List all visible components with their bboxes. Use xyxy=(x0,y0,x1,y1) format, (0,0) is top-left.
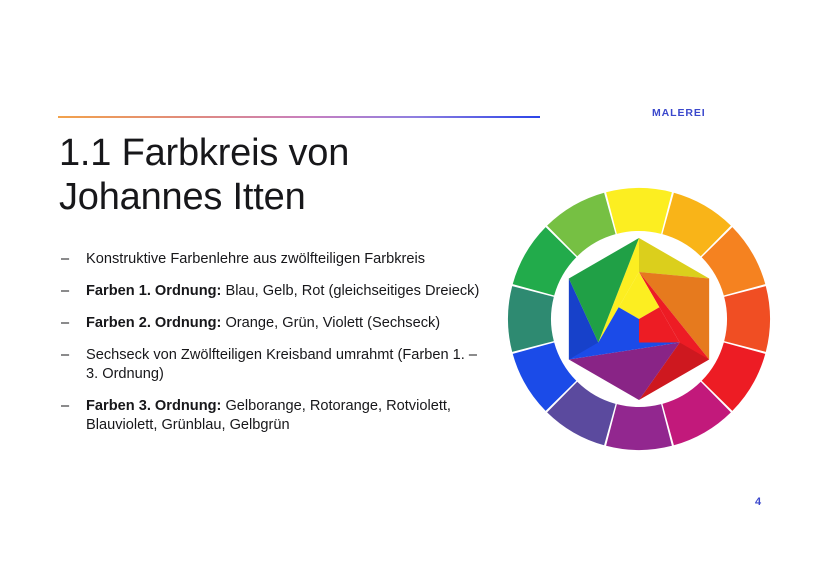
ring-segment-violett xyxy=(606,404,672,450)
color-wheel-figure xyxy=(489,169,789,469)
bullet-item: –Sechseck von Zwölfteiligen Kreisband um… xyxy=(58,346,488,384)
page-title-line-2: Johannes Itten xyxy=(59,175,489,219)
bullet-dash-marker: – xyxy=(61,397,69,416)
bullet-text: Orange, Grün, Violett (Sechseck) xyxy=(221,315,440,331)
bullet-text: Sechseck von Zwölfteiligen Kreisband umr… xyxy=(86,347,477,382)
bullet-text: Blau, Gelb, Rot (gleichseitiges Dreieck) xyxy=(221,283,479,299)
bullet-item: –Farben 1. Ordnung: Blau, Gelb, Rot (gle… xyxy=(58,282,488,301)
slide-canvas: MALEREI 1.1 Farbkreis von Johannes Itten… xyxy=(0,0,828,586)
bullet-list: –Konstruktive Farbenlehre aus zwölfteili… xyxy=(58,250,488,435)
ring-segment-gelb xyxy=(606,188,672,234)
page-title: 1.1 Farbkreis von Johannes Itten xyxy=(59,131,489,220)
bullet-dash-marker: – xyxy=(61,250,69,269)
section-kicker: MALEREI xyxy=(652,107,706,119)
page-number: 4 xyxy=(755,496,761,508)
bullet-label: Farben 3. Ordnung: xyxy=(86,398,221,414)
ring-segment-grünblau xyxy=(508,286,554,352)
bullet-dash-marker: – xyxy=(61,346,69,365)
bullet-dash-marker: – xyxy=(61,314,69,333)
page-title-line-1: 1.1 Farbkreis von xyxy=(59,131,489,175)
bullet-label: Farben 2. Ordnung: xyxy=(86,315,221,331)
header-gradient-rule xyxy=(58,116,540,118)
bullet-item: –Konstruktive Farbenlehre aus zwölfteili… xyxy=(58,250,488,269)
itten-color-wheel-svg xyxy=(489,169,789,469)
ring-segment-rotorange xyxy=(724,286,770,352)
bullet-label: Farben 1. Ordnung: xyxy=(86,283,221,299)
bullet-item: –Farben 3. Ordnung: Gelborange, Rotorang… xyxy=(58,397,488,435)
bullet-item: –Farben 2. Ordnung: Orange, Grün, Violet… xyxy=(58,314,488,333)
bullet-text: Konstruktive Farbenlehre aus zwölfteilig… xyxy=(86,251,425,267)
bullet-dash-marker: – xyxy=(61,282,69,301)
